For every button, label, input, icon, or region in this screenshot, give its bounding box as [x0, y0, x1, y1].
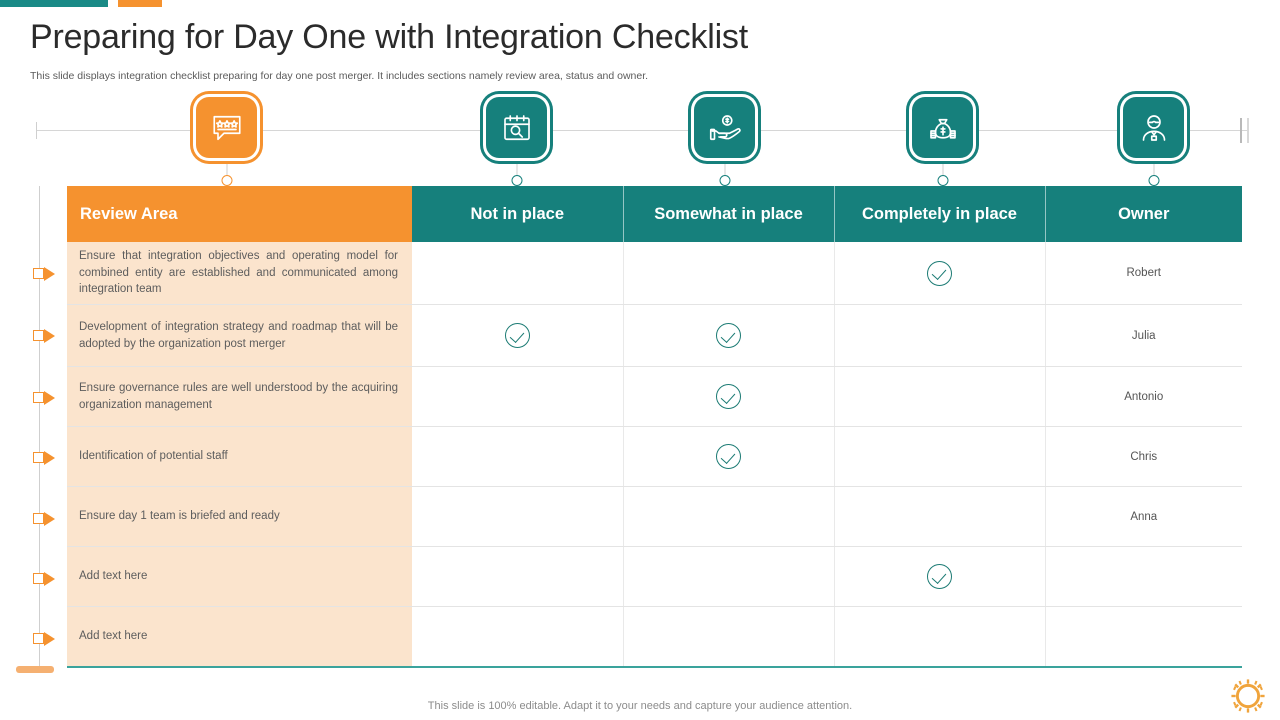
cell-review-area[interactable]: Development of integration strategy and …	[67, 305, 412, 367]
timeline-node-2[interactable]	[486, 97, 547, 158]
bullet-square-icon	[33, 268, 44, 279]
table-row: Development of integration strategy and …	[67, 305, 1242, 367]
cell-review-area[interactable]: Add text here	[67, 547, 412, 607]
bullet-triangle-icon	[44, 329, 55, 343]
cell-review-area[interactable]: Ensure that integration objectives and o…	[67, 242, 412, 305]
timeline-node-3[interactable]	[694, 97, 755, 158]
timeline-node-3-badge[interactable]	[694, 97, 755, 158]
calendar-search-icon	[499, 110, 535, 146]
check-circle-icon	[927, 261, 952, 286]
timeline-node-2-dot	[511, 175, 522, 186]
cell-completely-in-place[interactable]	[834, 607, 1045, 667]
timeline-node-3-dot	[719, 175, 730, 186]
bullet-triangle-icon	[44, 267, 55, 281]
cell-completely-in-place[interactable]	[834, 547, 1045, 607]
left-bullet-rail	[39, 186, 40, 666]
bullet-triangle-icon	[44, 632, 55, 646]
timeline-node-5-dot	[1148, 175, 1159, 186]
top-accent-bar-teal	[0, 0, 108, 7]
cell-review-area[interactable]: Identification of potential staff	[67, 427, 412, 487]
gear-icon	[1231, 679, 1265, 713]
table-row: Add text here	[67, 607, 1242, 667]
bullet-square-icon	[33, 330, 44, 341]
cell-somewhat-in-place[interactable]	[623, 487, 834, 547]
bullet-square-icon	[33, 392, 44, 403]
table-bottom-rule	[67, 666, 1242, 668]
column-header-not-in-place[interactable]: Not in place	[412, 186, 623, 242]
cell-completely-in-place[interactable]	[834, 242, 1045, 305]
bullet-triangle-icon	[44, 391, 55, 405]
money-bag-coins-icon	[925, 110, 961, 146]
cell-completely-in-place[interactable]	[834, 427, 1045, 487]
column-header-review-area[interactable]: Review Area	[67, 186, 412, 242]
timeline-node-5-badge[interactable]	[1123, 97, 1184, 158]
bullet-triangle-icon	[44, 512, 55, 526]
check-circle-icon	[716, 323, 741, 348]
cell-not-in-place[interactable]	[412, 607, 623, 667]
cell-somewhat-in-place[interactable]	[623, 305, 834, 367]
column-header-completely-in-place[interactable]: Completely in place	[834, 186, 1045, 242]
table-row: Ensure governance rules are well underst…	[67, 367, 1242, 427]
table-row: Ensure that integration objectives and o…	[67, 242, 1242, 305]
slide-canvas: Preparing for Day One with Integration C…	[0, 0, 1280, 720]
timeline-right-cap-outer	[1247, 118, 1249, 143]
check-circle-icon	[505, 323, 530, 348]
check-circle-icon	[716, 444, 741, 469]
cell-owner[interactable]: Julia	[1045, 305, 1242, 367]
timeline-node-1-badge[interactable]	[196, 97, 257, 158]
timeline-node-1[interactable]	[196, 97, 257, 158]
timeline-node-4[interactable]	[912, 97, 973, 158]
cell-somewhat-in-place[interactable]	[623, 607, 834, 667]
table-row: Add text here	[67, 547, 1242, 607]
bullet-square-icon	[33, 513, 44, 524]
person-owner-icon	[1136, 110, 1172, 146]
timeline-node-4-dot	[937, 175, 948, 186]
cell-owner[interactable]	[1045, 547, 1242, 607]
cell-not-in-place[interactable]	[412, 305, 623, 367]
left-accent-dash	[16, 666, 54, 673]
timeline-right-cap-inner	[1240, 118, 1242, 143]
cell-not-in-place[interactable]	[412, 242, 623, 305]
review-stars-speech-bubble-icon	[209, 110, 245, 146]
cell-not-in-place[interactable]	[412, 427, 623, 487]
timeline-node-1-dot	[221, 175, 232, 186]
cell-owner[interactable]: Robert	[1045, 242, 1242, 305]
cell-not-in-place[interactable]	[412, 487, 623, 547]
check-circle-icon	[716, 384, 741, 409]
cell-somewhat-in-place[interactable]	[623, 367, 834, 427]
cell-completely-in-place[interactable]	[834, 305, 1045, 367]
cell-not-in-place[interactable]	[412, 367, 623, 427]
timeline-node-5[interactable]	[1123, 97, 1184, 158]
table-row: Identification of potential staffChris	[67, 427, 1242, 487]
cell-completely-in-place[interactable]	[834, 367, 1045, 427]
timeline-node-4-badge[interactable]	[912, 97, 973, 158]
table-header-row: Review Area Not in place Somewhat in pla…	[67, 186, 1242, 242]
page-title: Preparing for Day One with Integration C…	[30, 18, 748, 57]
cell-owner[interactable]: Anna	[1045, 487, 1242, 547]
table-body: Ensure that integration objectives and o…	[67, 242, 1242, 667]
bullet-square-icon	[33, 452, 44, 463]
check-circle-icon	[927, 564, 952, 589]
cell-review-area[interactable]: Add text here	[67, 607, 412, 667]
column-header-owner[interactable]: Owner	[1045, 186, 1242, 242]
integration-checklist-table: Review Area Not in place Somewhat in pla…	[67, 186, 1242, 667]
table-row: Ensure day 1 team is briefed and readyAn…	[67, 487, 1242, 547]
cell-review-area[interactable]: Ensure governance rules are well underst…	[67, 367, 412, 427]
cell-somewhat-in-place[interactable]	[623, 242, 834, 305]
cell-completely-in-place[interactable]	[834, 487, 1045, 547]
cell-not-in-place[interactable]	[412, 547, 623, 607]
cell-owner[interactable]	[1045, 607, 1242, 667]
cell-review-area[interactable]: Ensure day 1 team is briefed and ready	[67, 487, 412, 547]
bullet-triangle-icon	[44, 451, 55, 465]
bullet-square-icon	[33, 573, 44, 584]
bullet-square-icon	[33, 633, 44, 644]
column-header-somewhat-in-place[interactable]: Somewhat in place	[623, 186, 834, 242]
hand-holding-coin-icon	[707, 110, 743, 146]
top-accent-bar-orange	[118, 0, 162, 7]
timeline-node-2-badge[interactable]	[486, 97, 547, 158]
cell-owner[interactable]: Antonio	[1045, 367, 1242, 427]
cell-owner[interactable]: Chris	[1045, 427, 1242, 487]
page-subtitle: This slide displays integration checklis…	[30, 70, 648, 82]
cell-somewhat-in-place[interactable]	[623, 547, 834, 607]
cell-somewhat-in-place[interactable]	[623, 427, 834, 487]
timeline-left-cap	[36, 122, 37, 139]
bullet-triangle-icon	[44, 572, 55, 586]
footer-note: This slide is 100% editable. Adapt it to…	[0, 700, 1280, 712]
